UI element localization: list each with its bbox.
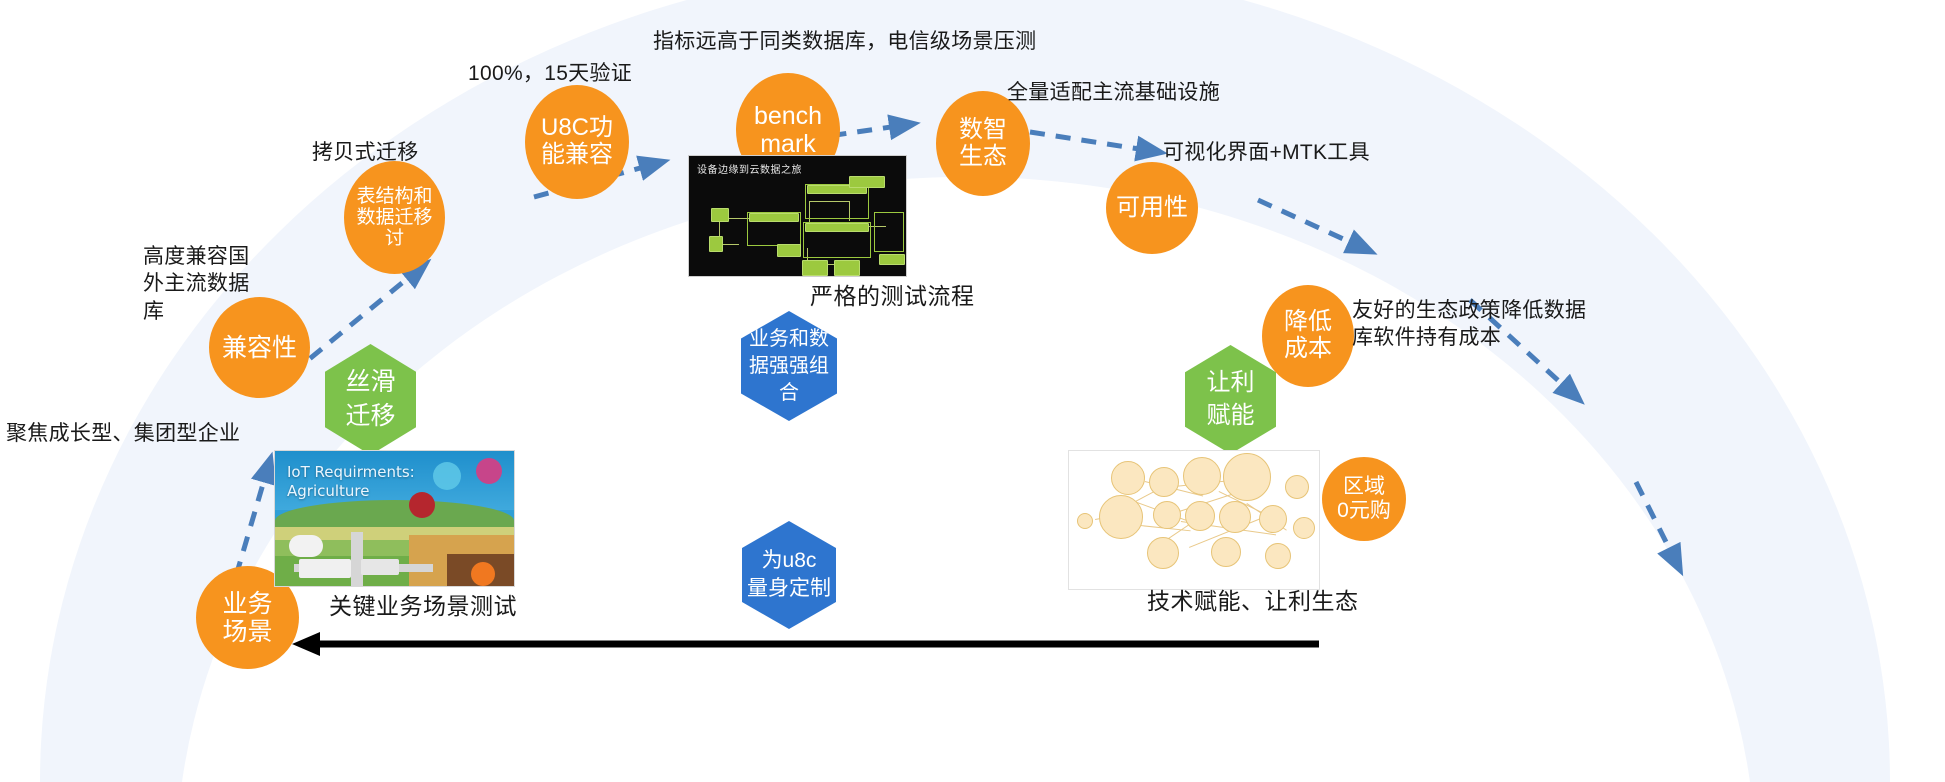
node-reduce-cost[interactable]: 降低 成本: [1262, 285, 1354, 387]
caption-strict-test-process: 严格的测试流程: [810, 282, 975, 312]
node-region-zero-purchase[interactable]: 区域 0元购: [1322, 457, 1406, 541]
node-availability[interactable]: 可用性: [1106, 162, 1198, 254]
hex-profit-sharing-empowerment[interactable]: 让利 赋能: [1185, 345, 1276, 454]
hex-silky-migration[interactable]: 丝滑 迁移: [325, 344, 416, 455]
annotation-friendly-eco-policy: 友好的生态政策降低数据 库软件持有成本: [1352, 297, 1586, 352]
annotation-full-adaptation-infra: 全量适配主流基础设施: [1007, 79, 1220, 106]
hex-tailor-made-for-u8c[interactable]: 为u8c 量身定制: [742, 521, 836, 629]
diagram-canvas: 业务 场景 兼容性 表结构和 数据迁移 讨 U8C功 能兼容 bench mar…: [0, 0, 1945, 782]
annotation-100-15days: 100%，15天验证: [468, 60, 632, 87]
annotation-copy-migration: 拷贝式迁移: [312, 139, 419, 166]
caption-key-business-scenario-test: 关键业务场景测试: [329, 592, 517, 622]
node-digital-ecology[interactable]: 数智 生态: [936, 91, 1030, 196]
image-iot-architecture: 设备边缘到云数据之旅: [688, 155, 907, 277]
annotation-focus-enterprises: 聚焦成长型、集团型企业: [6, 420, 240, 447]
annotation-visual-ui-mtk-tool: 可视化界面+MTK工具: [1163, 139, 1370, 166]
hex-business-data-combo[interactable]: 业务和数 据强强组 合: [741, 311, 837, 421]
image-iot-agriculture-title: IoT Requirments: Agriculture: [287, 463, 415, 501]
image-bubble-network: [1068, 450, 1320, 590]
node-table-data-migration[interactable]: 表结构和 数据迁移 讨: [344, 161, 445, 274]
image-iot-agriculture: IoT Requirments: Agriculture: [274, 450, 515, 587]
annotation-metrics-far-higher: 指标远高于同类数据库，电信级场景压测: [653, 28, 1036, 55]
annotation-high-compat-foreign-db: 高度兼容国 外主流数据 库: [143, 243, 250, 325]
image-iot-architecture-title: 设备边缘到云数据之旅: [697, 161, 802, 176]
caption-tech-empower-profit-eco: 技术赋能、让利生态: [1147, 587, 1359, 617]
node-u8c-function-compat[interactable]: U8C功 能兼容: [525, 85, 629, 199]
bottom-flow-arrow: [292, 632, 1319, 656]
